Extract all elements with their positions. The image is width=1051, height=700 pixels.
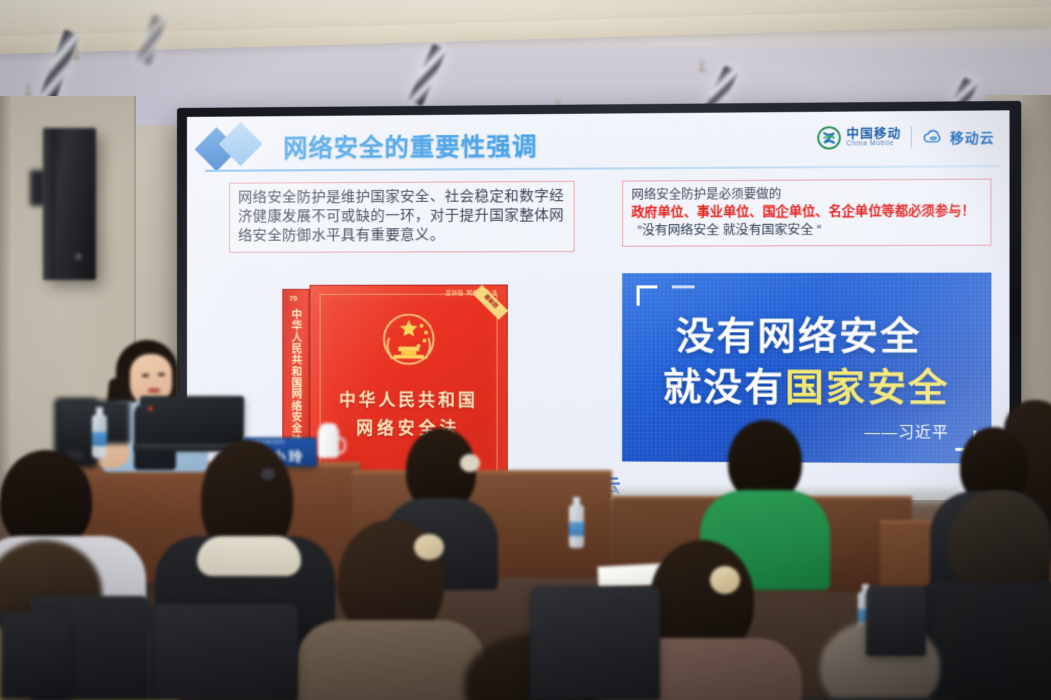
title-underline — [205, 165, 1000, 172]
presenter-eye — [158, 373, 165, 376]
water-bottle — [569, 505, 584, 548]
left-wall-edge — [0, 96, 11, 506]
bottle-label — [92, 432, 107, 446]
audience-head — [0, 450, 92, 550]
right-box-line1: 网络安全防护是必须要做的 — [631, 185, 981, 205]
ecloud-logo: 移动云 — [921, 125, 994, 148]
chair-back — [866, 586, 926, 656]
speaker-mount-bracket — [30, 170, 46, 206]
brand-logos: 中国移动 China Mobile 移动云 — [817, 125, 995, 150]
sprinkler-head — [26, 84, 30, 95]
right-text-box: 网络安全防护是必须要做的 政府单位、事业单位、国企单位、名企单位等都必须参与！ … — [622, 179, 991, 247]
book-spine-title: 中华人民共和国网络安全法 — [289, 310, 304, 447]
china-mobile-label-en: China Mobile — [846, 140, 901, 148]
sprinkler-head — [700, 60, 704, 71]
brand-divider — [911, 127, 912, 149]
slogan-line2-yellow: 国家安全 — [785, 367, 949, 410]
presenter-mouth — [148, 388, 160, 393]
left-box-text: 网络安全防护是维护国家安全、社会稳定和数字经济健康发展不可或缺的一环，对于提升国… — [238, 187, 565, 246]
slogan-line2: 就没有国家安全 — [630, 357, 983, 413]
title-diamond-decoration — [199, 126, 285, 173]
china-mobile-label-cn: 中国移动 — [846, 127, 901, 140]
hair-scrunchie — [414, 534, 444, 560]
sprinkler-head — [74, 48, 78, 59]
china-mobile-mark-icon — [817, 126, 841, 150]
corner-tick-icon — [672, 285, 695, 288]
hair-tie — [261, 468, 275, 480]
cloud-icon — [921, 126, 944, 149]
presenter-eye — [142, 374, 149, 377]
presenter-laptop — [140, 396, 245, 446]
right-box-line2: 政府单位、事业单位、国企单位、名企单位等都必须参与！ — [631, 203, 981, 223]
bottle-label — [569, 522, 584, 536]
slogan-line1: 没有网络安全 — [622, 306, 976, 362]
corner-bracket-icon — [637, 285, 658, 305]
slide-title: 网络安全的重要性强调 — [283, 126, 537, 163]
right-box-line3: “没有网络安全 就没有国家安全 “ — [631, 221, 981, 241]
chair-back — [530, 586, 660, 700]
national-emblem-icon — [371, 308, 446, 377]
book-cover-line1: 中华人民共和国 — [311, 386, 507, 411]
chair-back — [148, 604, 298, 700]
wall-speaker — [43, 128, 96, 280]
hair-scrunchie — [460, 454, 480, 472]
china-mobile-logo: 中国移动 China Mobile — [817, 126, 901, 150]
left-text-box: 网络安全防护是维护国家安全、社会稳定和数字经济健康发展不可或缺的一环，对于提升国… — [229, 181, 575, 253]
hair-scrunchie — [710, 566, 740, 594]
lace-collar — [197, 536, 301, 576]
conference-room-scene: 网络安全的重要性强调 中国移动 China Mobile — [0, 0, 1051, 700]
speaker-badge-icon — [75, 253, 82, 260]
slogan-line2-white: 就没有 — [663, 367, 785, 409]
laptop-logo-icon — [148, 406, 153, 411]
ecloud-label: 移动云 — [950, 127, 995, 147]
book-spine-number: 70 — [289, 296, 297, 303]
chair-back — [0, 612, 70, 700]
